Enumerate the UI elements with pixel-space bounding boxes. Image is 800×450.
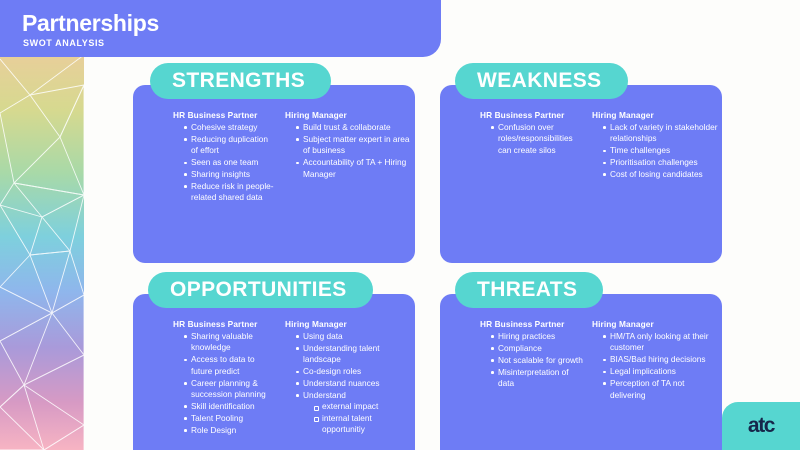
list-item: Build trust & collaborate — [296, 122, 411, 133]
bullet-list: Sharing valuable knowledge Access to dat… — [173, 331, 277, 436]
quadrant-strengths: STRENGTHS HR Business Partner Cohesive s… — [133, 63, 415, 263]
quadrant-columns-weakness: HR Business Partner Confusion over roles… — [480, 110, 718, 181]
column-hr-business-partner: HR Business Partner Sharing valuable kno… — [173, 319, 277, 437]
list-item: BIAS/Bad hiring decisions — [603, 354, 718, 365]
list-item: Misinterpretation of data — [491, 367, 584, 390]
list-item: Accountability of TA + Hiring Manager — [296, 157, 411, 180]
column-heading: HR Business Partner — [173, 319, 277, 329]
column-heading: HR Business Partner — [173, 110, 277, 120]
quadrant-pill-weakness: WEAKNESS — [455, 63, 628, 99]
quadrant-title-opportunities: OPPORTUNITIES — [170, 278, 347, 302]
column-heading: Hiring Manager — [285, 110, 411, 120]
logo-text: atc — [748, 414, 774, 438]
list-item: Cost of losing candidates — [603, 169, 718, 180]
column-heading: Hiring Manager — [592, 110, 718, 120]
bullet-list: Confusion over roles/responsibilities ca… — [480, 122, 584, 156]
list-item: Cohesive strategy — [184, 122, 277, 133]
quadrant-pill-opportunities: OPPORTUNITIES — [148, 272, 373, 308]
sub-bullet-list: external impact internal talent opportun… — [303, 401, 411, 435]
list-item: Understanding talent landscape — [296, 343, 411, 366]
quadrant-opportunities: OPPORTUNITIES HR Business Partner Sharin… — [133, 272, 415, 442]
page-title: Partnerships — [22, 10, 159, 37]
list-item: Compliance — [491, 343, 584, 354]
list-item: Seen as one team — [184, 157, 277, 168]
list-item: Subject matter expert in area of busines… — [296, 134, 411, 157]
quadrant-columns-opportunities: HR Business Partner Sharing valuable kno… — [173, 319, 411, 437]
decorative-polygon-graphic — [0, 55, 84, 450]
quadrant-threats: THREATS HR Business Partner Hiring pract… — [440, 272, 722, 442]
quadrant-pill-strengths: STRENGTHS — [150, 63, 331, 99]
list-item: Access to data to future predict — [184, 354, 277, 377]
list-item: Sharing insights — [184, 169, 277, 180]
quadrant-columns-threats: HR Business Partner Hiring practices Com… — [480, 319, 718, 401]
quadrant-title-weakness: WEAKNESS — [477, 69, 602, 93]
column-heading: Hiring Manager — [285, 319, 411, 329]
column-hiring-manager: Hiring Manager Build trust & collaborate… — [285, 110, 411, 204]
column-heading: HR Business Partner — [480, 319, 584, 329]
quadrant-title-threats: THREATS — [477, 278, 577, 302]
list-item: Reducing duplication of effort — [184, 134, 277, 157]
list-item: Co-design roles — [296, 366, 411, 377]
column-hr-business-partner: HR Business Partner Confusion over roles… — [480, 110, 584, 181]
list-item: Lack of variety in stakeholder relations… — [603, 122, 718, 145]
column-heading: HR Business Partner — [480, 110, 584, 120]
quadrant-columns-strengths: HR Business Partner Cohesive strategy Re… — [173, 110, 411, 204]
list-item: Talent Pooling — [184, 413, 277, 424]
column-heading: Hiring Manager — [592, 319, 718, 329]
bullet-list: Using data Understanding talent landscap… — [285, 331, 411, 436]
list-item: Time challenges — [603, 145, 718, 156]
header-banner: Partnerships SWOT ANALYSIS — [0, 0, 441, 57]
list-item-label: Understand — [303, 390, 346, 400]
column-hr-business-partner: HR Business Partner Hiring practices Com… — [480, 319, 584, 401]
list-item: Not scalable for growth — [491, 355, 584, 366]
bullet-list: Hiring practices Compliance Not scalable… — [480, 331, 584, 390]
column-hiring-manager: Hiring Manager Using data Understanding … — [285, 319, 411, 437]
bullet-list: Build trust & collaborate Subject matter… — [285, 122, 411, 180]
list-item: Role Design — [184, 425, 277, 436]
list-item: Perception of TA not delivering — [603, 378, 718, 401]
bullet-list: Lack of variety in stakeholder relations… — [592, 122, 718, 181]
quadrant-title-strengths: STRENGTHS — [172, 69, 305, 93]
quadrant-weakness: WEAKNESS HR Business Partner Confusion o… — [440, 63, 722, 263]
bullet-list: HM/TA only looking at their customer BIA… — [592, 331, 718, 401]
swot-slide: Partnerships SWOT ANALYSIS STRENGTHS HR … — [0, 0, 800, 450]
sub-list-item: external impact — [314, 401, 411, 412]
list-item: Skill identification — [184, 401, 277, 412]
list-item: Confusion over roles/responsibilities ca… — [491, 122, 584, 156]
list-item: Career planning & succession planning — [184, 378, 277, 401]
list-item: Using data — [296, 331, 411, 342]
list-item: Hiring practices — [491, 331, 584, 342]
list-item: Sharing valuable knowledge — [184, 331, 277, 354]
list-item: Understand nuances — [296, 378, 411, 389]
list-item: HM/TA only looking at their customer — [603, 331, 718, 354]
page-subtitle: SWOT ANALYSIS — [23, 38, 105, 48]
sub-list-item: internal talent opportunitiy — [314, 413, 411, 436]
column-hiring-manager: Hiring Manager HM/TA only looking at the… — [592, 319, 718, 401]
list-item: Prioritisation challenges — [603, 157, 718, 168]
quadrant-pill-threats: THREATS — [455, 272, 603, 308]
list-item: Understand external impact internal tale… — [296, 390, 411, 436]
column-hiring-manager: Hiring Manager Lack of variety in stakeh… — [592, 110, 718, 181]
list-item: Reduce risk in people-related shared dat… — [184, 181, 277, 204]
list-item: Legal implications — [603, 366, 718, 377]
column-hr-business-partner: HR Business Partner Cohesive strategy Re… — [173, 110, 277, 204]
bullet-list: Cohesive strategy Reducing duplication o… — [173, 122, 277, 204]
logo-badge: atc — [722, 402, 800, 450]
